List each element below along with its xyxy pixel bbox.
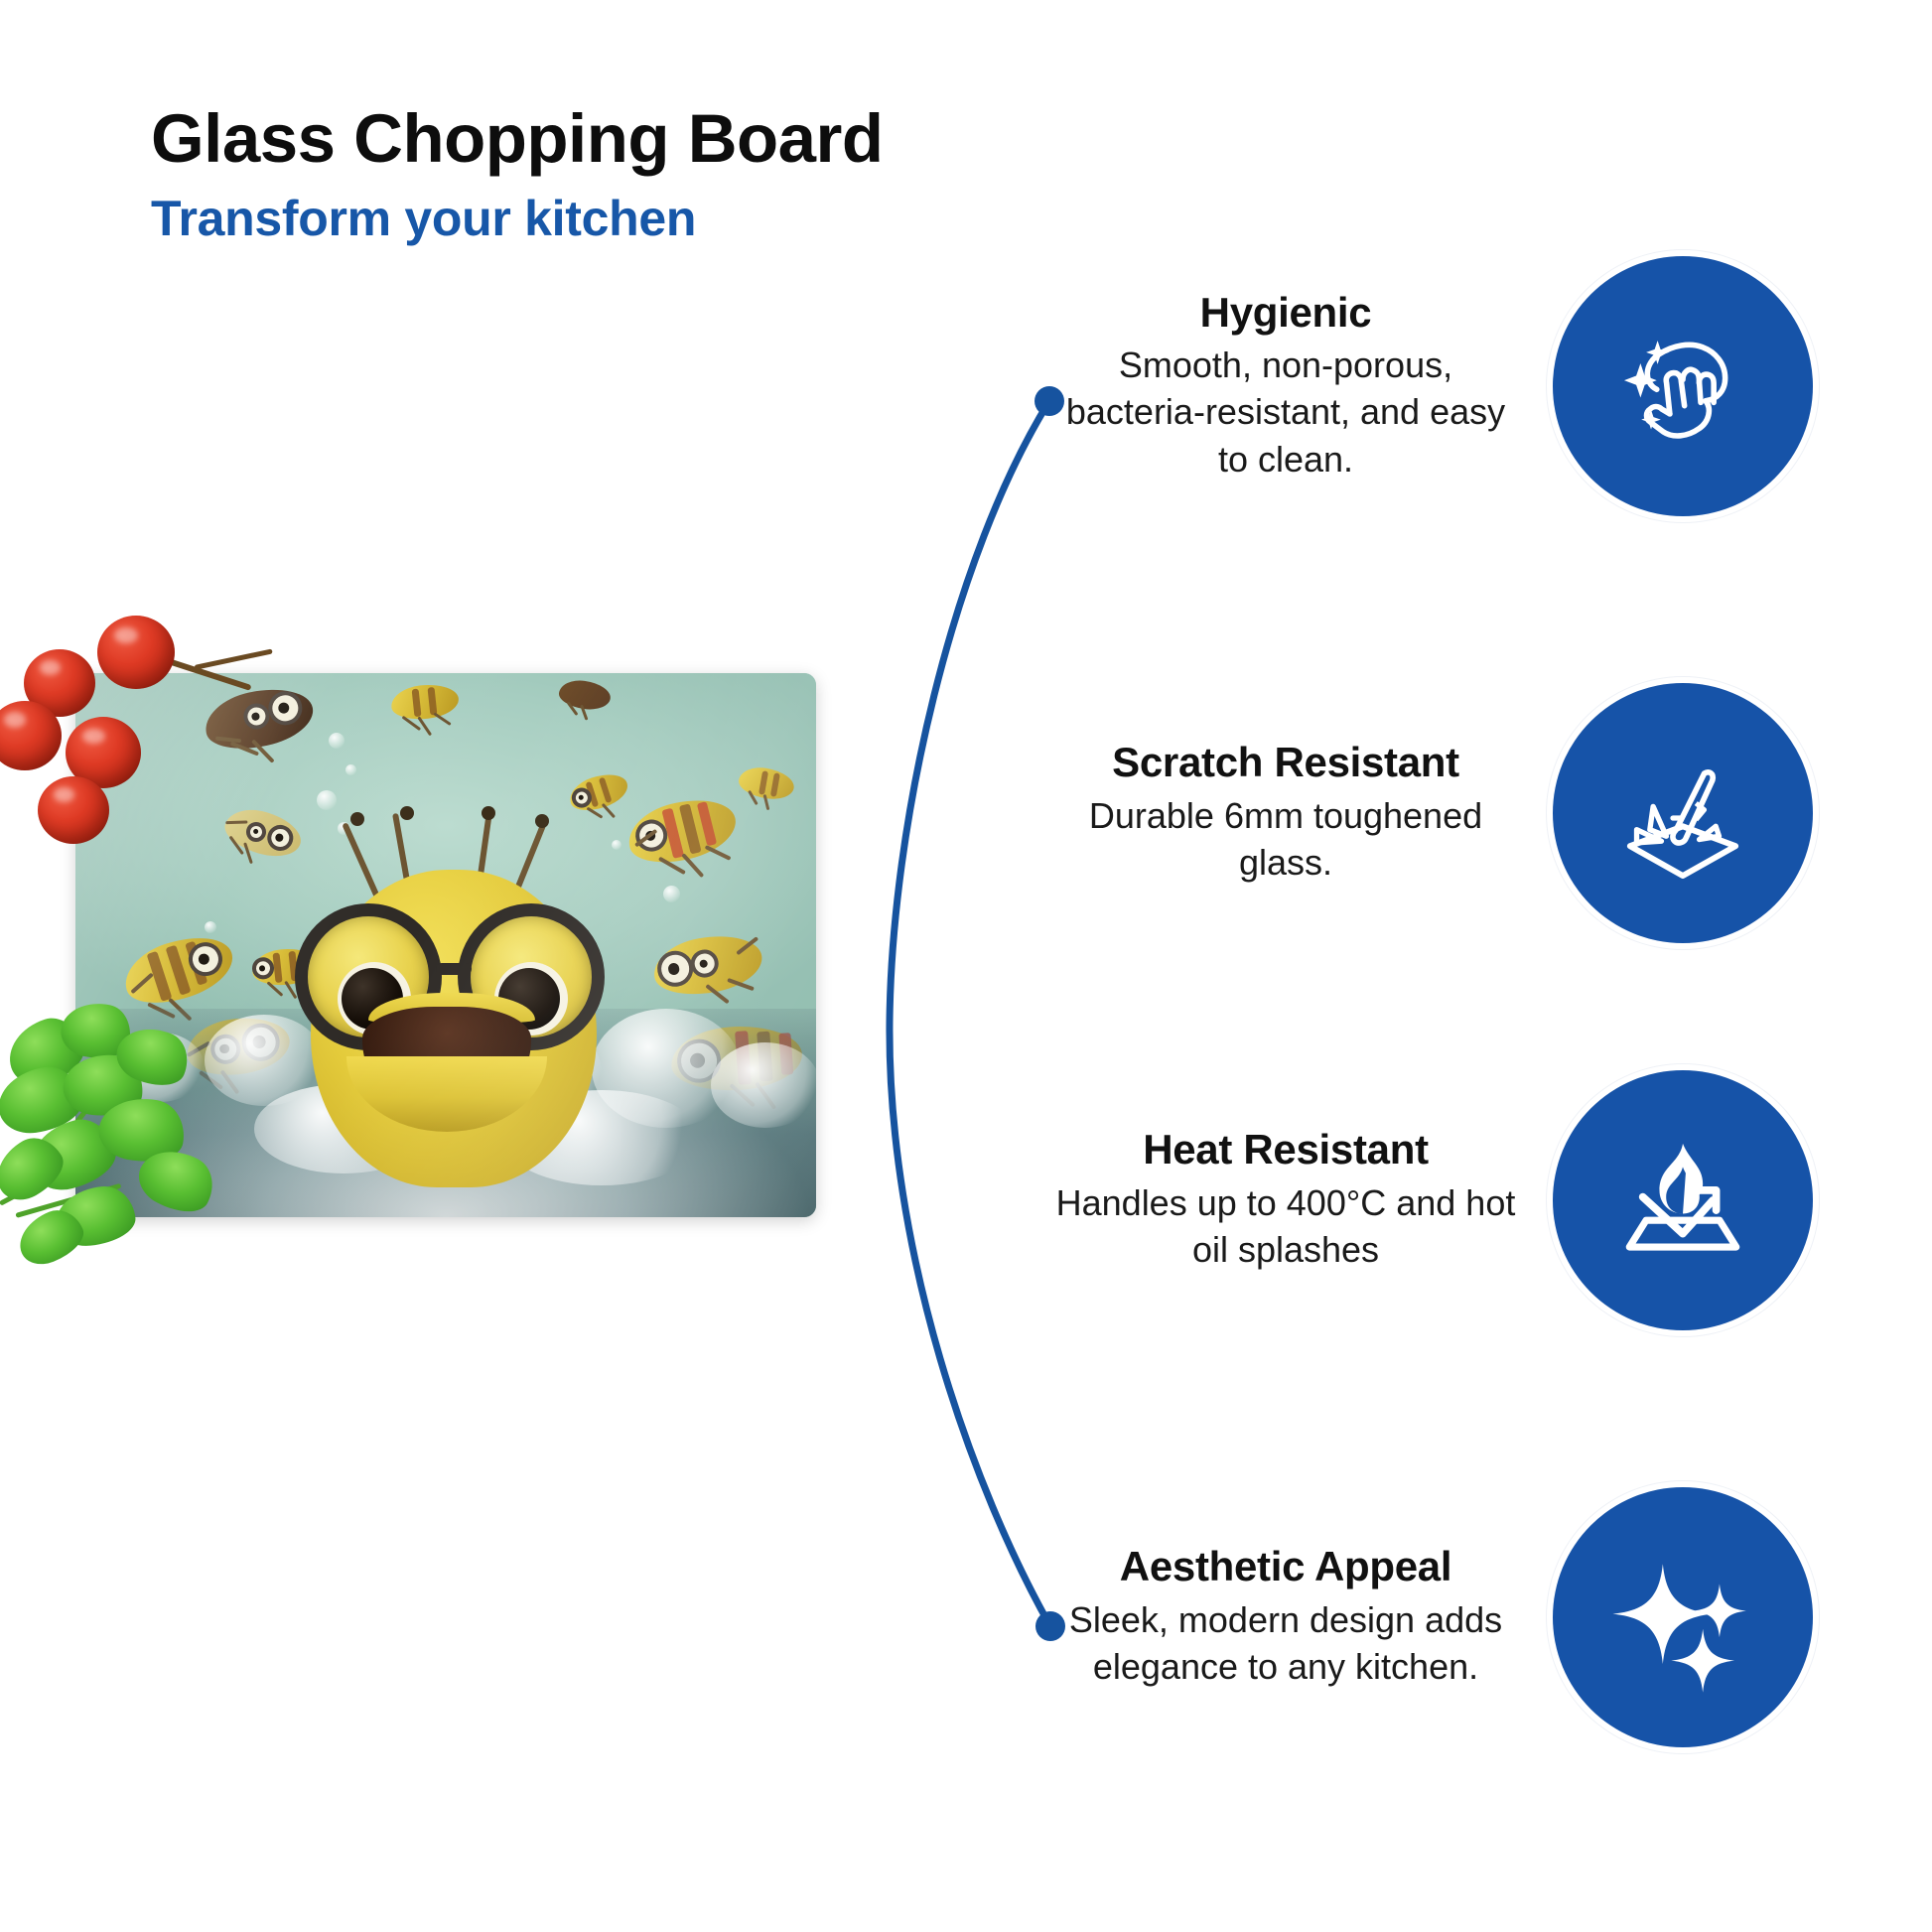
- feature-hygienic-title: Hygienic: [1052, 290, 1519, 336]
- bubble: [317, 790, 337, 810]
- feature-hygienic-text: Hygienic Smooth, non-porous, bacteria-re…: [1052, 290, 1519, 483]
- feature-aesthetic-appeal: Aesthetic Appeal Sleek, modern design ad…: [1052, 1487, 1813, 1747]
- flame-deflect-icon: [1553, 1070, 1813, 1330]
- mini-bee: [737, 763, 796, 802]
- feature-heat-resistant-text: Heat Resistant Handles up to 400°C and h…: [1052, 1127, 1519, 1273]
- feature-heat-resistant-desc: Handles up to 400°C and hot oil splashes: [1052, 1179, 1519, 1274]
- mini-bee: [389, 682, 460, 723]
- bubble: [329, 733, 345, 749]
- feature-aesthetic-appeal-text: Aesthetic Appeal Sleek, modern design ad…: [1052, 1544, 1519, 1690]
- parsley-garnish: [0, 993, 238, 1261]
- mini-bee: [557, 678, 612, 713]
- tomato-vine: [194, 648, 272, 670]
- main-bee-character: [289, 812, 617, 1209]
- tomato: [38, 776, 109, 844]
- feature-hygienic: Hygienic Smooth, non-porous, bacteria-re…: [1052, 256, 1813, 516]
- feature-scratch-resistant-desc: Durable 6mm toughened glass.: [1052, 792, 1519, 887]
- hand-wipe-sparkle-icon: [1553, 256, 1813, 516]
- product-image: [0, 596, 874, 1291]
- feature-scratch-resistant: Scratch Resistant Durable 6mm toughened …: [1052, 683, 1813, 943]
- sparkles-icon: [1553, 1487, 1813, 1747]
- mini-bee: [200, 680, 318, 758]
- mini-bee: [566, 768, 632, 817]
- mini-bee: [649, 928, 766, 1002]
- bubble: [663, 886, 680, 902]
- glasses-bridge: [436, 963, 472, 975]
- header-block: Glass Chopping Board Transform your kitc…: [151, 103, 1144, 245]
- feature-aesthetic-appeal-desc: Sleek, modern design adds elegance to an…: [1052, 1596, 1519, 1691]
- feature-heat-resistant: Heat Resistant Handles up to 400°C and h…: [1052, 1070, 1813, 1330]
- knife-impact-icon: [1553, 683, 1813, 943]
- mini-bee: [622, 790, 743, 873]
- feature-hygienic-desc: Smooth, non-porous, bacteria-resistant, …: [1052, 342, 1519, 483]
- feature-heat-resistant-title: Heat Resistant: [1052, 1127, 1519, 1173]
- bubble: [345, 764, 356, 775]
- feature-scratch-resistant-text: Scratch Resistant Durable 6mm toughened …: [1052, 740, 1519, 886]
- feature-scratch-resistant-title: Scratch Resistant: [1052, 740, 1519, 785]
- page-title: Glass Chopping Board: [151, 103, 1144, 175]
- page-subtitle: Transform your kitchen: [151, 193, 1144, 245]
- infographic-canvas: Glass Chopping Board Transform your kitc…: [0, 0, 1932, 1932]
- tomato: [97, 616, 175, 689]
- feature-aesthetic-appeal-title: Aesthetic Appeal: [1052, 1544, 1519, 1589]
